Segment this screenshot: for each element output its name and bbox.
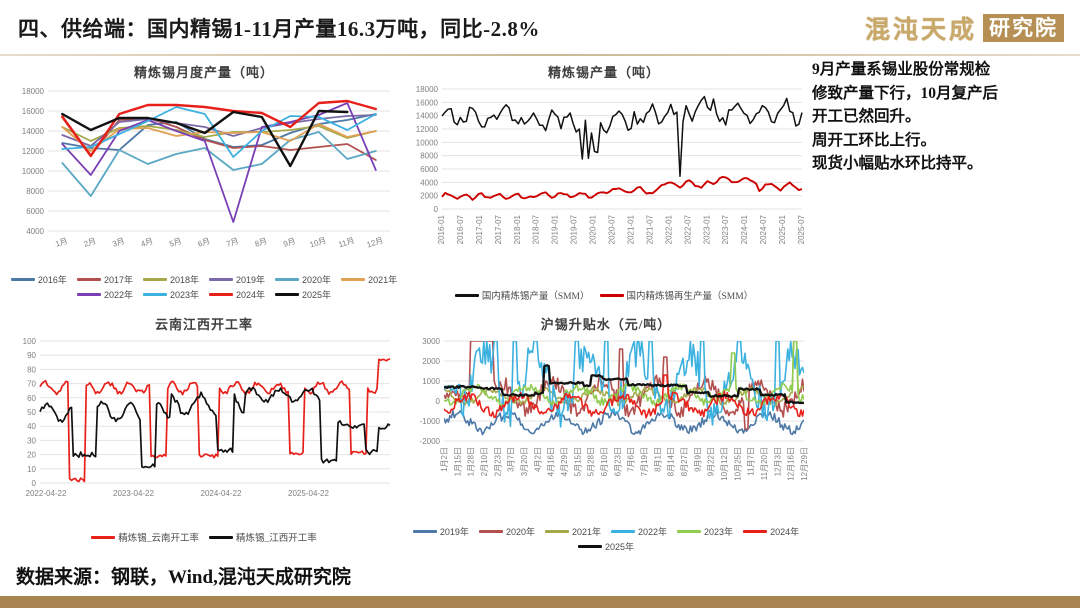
svg-text:2000: 2000: [422, 357, 440, 366]
brand-logo: 混沌天成 研究院: [865, 8, 1064, 48]
chart-operating-rate: 云南江西开工率 01020304050607080901002022-04-22…: [8, 312, 400, 560]
svg-text:3000: 3000: [422, 337, 440, 346]
chart-operating-rate-legend: 精炼锡_云南开工率精炼锡_江西开工率: [8, 530, 400, 544]
legend-item-国内精炼锡再生产量（SMM）[interactable]: 国内精炼锡再生产量（SMM）: [600, 288, 754, 302]
header-divider: [0, 54, 1080, 56]
svg-text:16000: 16000: [416, 98, 439, 107]
svg-text:8月27日: 8月27日: [680, 447, 689, 476]
svg-text:50: 50: [27, 408, 36, 417]
legend-swatch-icon: [611, 530, 635, 533]
svg-text:2018-01: 2018-01: [513, 214, 522, 244]
legend-label: 2022年: [638, 525, 667, 538]
svg-text:-2000: -2000: [420, 437, 441, 446]
svg-text:7月: 7月: [225, 236, 240, 248]
chart-premium-title: 沪锡升贴水（元/吨）: [400, 312, 812, 333]
legend-swatch-icon: [77, 293, 101, 296]
legend-item-2018年[interactable]: 2018年: [143, 273, 199, 286]
svg-text:11月: 11月: [337, 236, 355, 250]
legend-swatch-icon: [677, 530, 701, 533]
legend-item-2020年[interactable]: 2020年: [479, 525, 535, 538]
svg-text:4000: 4000: [26, 227, 44, 236]
chart-total-output-svg: 0200040006000800010000120001400016000180…: [398, 81, 810, 286]
svg-text:1月15日: 1月15日: [453, 447, 462, 476]
svg-text:10月: 10月: [309, 236, 328, 250]
svg-text:5月: 5月: [168, 236, 183, 248]
svg-text:1000: 1000: [422, 377, 440, 386]
svg-text:2024-04-22: 2024-04-22: [201, 489, 242, 498]
svg-text:12月16日: 12月16日: [787, 447, 796, 481]
svg-text:7月19日: 7月19日: [640, 447, 649, 476]
chart-monthly-output-title: 精炼锡月度产量（吨）: [8, 60, 400, 81]
svg-text:9月22日: 9月22日: [707, 447, 716, 476]
page-title: 四、供给端：国内精锡1-11月产量16.3万吨，同比-2.8%: [18, 13, 540, 43]
chart-monthly-output-legend: 2016年2017年2018年2019年2020年2021年2022年2023年…: [8, 273, 400, 301]
legend-swatch-icon: [743, 530, 767, 533]
svg-text:6000: 6000: [26, 207, 44, 216]
svg-text:5月15日: 5月15日: [573, 447, 582, 476]
legend-swatch-icon: [413, 530, 437, 533]
chart-monthly-output-svg: 40006000800010000120001400016000180001月2…: [8, 81, 400, 271]
legend-item-2024年[interactable]: 2024年: [209, 288, 265, 301]
commentary-panel: 9月产量系锡业股份常规检 修致产量下行，10月复产后 开工已然回升。 周开工环比…: [812, 58, 1074, 176]
svg-text:1月: 1月: [54, 236, 69, 248]
legend-item-2023年[interactable]: 2023年: [677, 525, 733, 538]
chart-operating-rate-svg: 01020304050607080901002022-04-222023-04-…: [8, 333, 400, 528]
svg-text:20: 20: [27, 451, 36, 460]
legend-label: 2023年: [704, 525, 733, 538]
svg-text:2016-01: 2016-01: [437, 214, 446, 244]
svg-text:100: 100: [23, 337, 37, 346]
legend-swatch-icon: [143, 278, 167, 281]
svg-text:2020-07: 2020-07: [608, 214, 617, 244]
svg-text:12月: 12月: [366, 236, 385, 250]
commentary-line-5: 现货小幅贴水环比持平。: [812, 152, 1074, 176]
legend-swatch-icon: [209, 278, 233, 281]
svg-text:3月7日: 3月7日: [507, 447, 516, 472]
svg-text:10000: 10000: [416, 138, 439, 147]
legend-swatch-icon: [77, 278, 101, 281]
svg-text:2月10日: 2月10日: [480, 447, 489, 476]
chart-total-output-title: 精炼锡产量（吨）: [398, 60, 810, 81]
svg-text:10月25日: 10月25日: [733, 447, 742, 481]
legend-item-2019年[interactable]: 2019年: [209, 273, 265, 286]
svg-text:2022-01: 2022-01: [664, 214, 673, 244]
svg-text:6000: 6000: [420, 165, 438, 174]
chart-premium-plot: -2000-100001000200030001月2日1月15日1月28日2月1…: [400, 333, 812, 523]
svg-text:16000: 16000: [22, 107, 45, 116]
svg-text:2020-01: 2020-01: [589, 214, 598, 244]
legend-swatch-icon: [11, 278, 35, 281]
chart-operating-rate-plot: 01020304050607080901002022-04-222023-04-…: [8, 333, 400, 528]
svg-text:8000: 8000: [26, 187, 44, 196]
svg-text:3月20日: 3月20日: [520, 447, 529, 476]
svg-text:2025-01: 2025-01: [778, 214, 787, 244]
svg-text:10000: 10000: [22, 167, 45, 176]
svg-text:2019-01: 2019-01: [551, 214, 560, 244]
legend-label: 国内精炼锡再生产量（SMM）: [627, 288, 754, 302]
svg-text:4月2日: 4月2日: [533, 447, 542, 472]
svg-text:2023-07: 2023-07: [721, 214, 730, 244]
svg-text:1月2日: 1月2日: [440, 447, 449, 472]
svg-text:8月1日: 8月1日: [653, 447, 662, 472]
svg-text:14000: 14000: [416, 112, 439, 121]
legend-label: 2016年: [38, 273, 67, 286]
legend-label: 精炼锡_江西开工率: [236, 530, 317, 544]
legend-swatch-icon: [578, 545, 602, 548]
legend-item-2025年[interactable]: 2025年: [275, 288, 331, 301]
svg-text:9月: 9月: [282, 236, 297, 248]
legend-label: 2019年: [440, 525, 469, 538]
chart-total-output: 精炼锡产量（吨） 0200040006000800010000120001400…: [398, 60, 810, 310]
svg-text:2000: 2000: [420, 192, 438, 201]
legend-item-2023年[interactable]: 2023年: [143, 288, 199, 301]
svg-text:0: 0: [434, 205, 439, 214]
svg-text:12月3日: 12月3日: [773, 447, 782, 476]
svg-text:0: 0: [436, 397, 441, 406]
svg-text:4月: 4月: [140, 236, 155, 248]
svg-text:2025-07: 2025-07: [797, 214, 806, 244]
svg-text:2024-01: 2024-01: [740, 214, 749, 244]
legend-swatch-icon: [479, 530, 503, 533]
svg-text:30: 30: [27, 436, 36, 445]
legend-label: 2021年: [572, 525, 601, 538]
svg-text:10月12日: 10月12日: [720, 447, 729, 481]
footer-accent-bar: [0, 596, 1080, 608]
svg-text:90: 90: [27, 351, 36, 360]
legend-item-2022年[interactable]: 2022年: [77, 288, 133, 301]
legend-item-2025年[interactable]: 2025年: [578, 540, 634, 553]
svg-text:2月: 2月: [83, 236, 98, 248]
svg-text:11月20日: 11月20日: [760, 447, 769, 480]
svg-text:2018-07: 2018-07: [532, 214, 541, 244]
legend-label: 2019年: [236, 273, 265, 286]
svg-text:2021-01: 2021-01: [626, 214, 635, 244]
svg-text:4000: 4000: [420, 178, 438, 187]
svg-text:1月28日: 1月28日: [467, 447, 476, 476]
legend-label: 2024年: [770, 525, 799, 538]
svg-text:12000: 12000: [22, 147, 45, 156]
legend-swatch-icon: [91, 536, 115, 539]
legend-item-2022年[interactable]: 2022年: [611, 525, 667, 538]
svg-text:6月23日: 6月23日: [613, 447, 622, 476]
legend-label: 2020年: [302, 273, 331, 286]
legend-item-2016年[interactable]: 2016年: [11, 273, 67, 286]
legend-swatch-icon: [275, 293, 299, 296]
svg-text:18000: 18000: [416, 85, 439, 94]
legend-label: 国内精炼锡产量（SMM）: [482, 288, 590, 302]
svg-text:0: 0: [32, 479, 37, 488]
svg-text:9月9日: 9月9日: [693, 447, 702, 472]
svg-text:8月14日: 8月14日: [667, 447, 676, 476]
legend-item-国内精炼锡产量（SMM）[interactable]: 国内精炼锡产量（SMM）: [455, 288, 590, 302]
legend-label: 2021年: [368, 273, 397, 286]
svg-text:2019-07: 2019-07: [570, 214, 579, 244]
brand-seal-text: 混沌天成: [865, 10, 977, 46]
legend-item-2020年[interactable]: 2020年: [275, 273, 331, 286]
data-source-label: 数据来源：钢联，Wind,混沌天成研究院: [16, 562, 351, 589]
legend-swatch-icon: [455, 294, 479, 297]
svg-text:7月6日: 7月6日: [627, 447, 636, 472]
legend-swatch-icon: [545, 530, 569, 533]
svg-text:18000: 18000: [22, 87, 45, 96]
svg-text:4月29日: 4月29日: [560, 447, 569, 476]
svg-text:2024-07: 2024-07: [759, 214, 768, 244]
svg-text:60: 60: [27, 394, 36, 403]
svg-text:2025-04-22: 2025-04-22: [288, 489, 329, 498]
svg-text:8000: 8000: [420, 152, 438, 161]
legend-label: 2024年: [236, 288, 265, 301]
chart-premium-svg: -2000-100001000200030001月2日1月15日1月28日2月1…: [400, 333, 812, 523]
legend-label: 2025年: [605, 540, 634, 553]
chart-monthly-output: 精炼锡月度产量（吨） 40006000800010000120001400016…: [8, 60, 400, 310]
svg-text:3月: 3月: [111, 236, 126, 248]
commentary-line-3: 开工已然回升。: [812, 105, 1074, 129]
slide-header: 四、供给端：国内精锡1-11月产量16.3万吨，同比-2.8% 混沌天成 研究院: [0, 0, 1080, 56]
legend-item-2019年[interactable]: 2019年: [413, 525, 469, 538]
svg-text:4月16日: 4月16日: [547, 447, 556, 476]
svg-text:70: 70: [27, 380, 36, 389]
svg-text:2022-07: 2022-07: [683, 214, 692, 244]
svg-text:6月10日: 6月10日: [600, 447, 609, 476]
chart-premium: 沪锡升贴水（元/吨） -2000-100001000200030001月2日1月…: [400, 312, 812, 560]
legend-swatch-icon: [143, 293, 167, 296]
legend-item-2017年[interactable]: 2017年: [77, 273, 133, 286]
legend-swatch-icon: [341, 278, 365, 281]
svg-text:2023-04-22: 2023-04-22: [113, 489, 154, 498]
legend-label: 2023年: [170, 288, 199, 301]
svg-text:2017-01: 2017-01: [475, 214, 484, 244]
svg-text:11月7日: 11月7日: [747, 447, 756, 476]
svg-text:2017-07: 2017-07: [494, 214, 503, 244]
legend-label: 2017年: [104, 273, 133, 286]
svg-text:40: 40: [27, 422, 36, 431]
svg-text:2022-04-22: 2022-04-22: [26, 489, 67, 498]
legend-item-2021年[interactable]: 2021年: [341, 273, 397, 286]
chart-total-output-plot: 0200040006000800010000120001400016000180…: [398, 81, 810, 286]
chart-premium-legend: 2019年2020年2021年2022年2023年2024年2025年: [400, 525, 812, 553]
legend-label: 2018年: [170, 273, 199, 286]
legend-label: 2025年: [302, 288, 331, 301]
legend-swatch-icon: [600, 294, 624, 297]
legend-item-精炼锡_云南开工率[interactable]: 精炼锡_云南开工率: [91, 530, 199, 544]
svg-text:5月28日: 5月28日: [587, 447, 596, 476]
svg-text:8月: 8月: [254, 236, 269, 248]
svg-text:2021-07: 2021-07: [645, 214, 654, 244]
chart-total-output-legend: 国内精炼锡产量（SMM）国内精炼锡再生产量（SMM）: [398, 288, 810, 302]
svg-text:14000: 14000: [22, 127, 45, 136]
chart-monthly-output-plot: 40006000800010000120001400016000180001月2…: [8, 81, 400, 271]
legend-item-精炼锡_江西开工率[interactable]: 精炼锡_江西开工率: [209, 530, 317, 544]
svg-text:2023-01: 2023-01: [702, 214, 711, 244]
svg-text:2016-07: 2016-07: [456, 214, 465, 244]
svg-text:10: 10: [27, 465, 36, 474]
commentary-line-1: 9月产量系锡业股份常规检: [812, 58, 1074, 82]
legend-label: 2022年: [104, 288, 133, 301]
legend-swatch-icon: [209, 293, 233, 296]
svg-text:12月29日: 12月29日: [800, 447, 809, 481]
commentary-line-2: 修致产量下行，10月复产后: [812, 82, 1074, 106]
legend-item-2021年[interactable]: 2021年: [545, 525, 601, 538]
legend-item-2024年[interactable]: 2024年: [743, 525, 799, 538]
svg-text:-1000: -1000: [420, 417, 441, 426]
brand-box-text: 研究院: [983, 14, 1064, 42]
legend-swatch-icon: [275, 278, 299, 281]
commentary-line-4: 周开工环比上行。: [812, 129, 1074, 153]
chart-operating-rate-title: 云南江西开工率: [8, 312, 400, 333]
svg-text:12000: 12000: [416, 125, 439, 134]
svg-text:6月: 6月: [197, 236, 212, 248]
legend-label: 精炼锡_云南开工率: [118, 530, 199, 544]
svg-text:80: 80: [27, 365, 36, 374]
legend-swatch-icon: [209, 536, 233, 539]
svg-text:2月23日: 2月23日: [493, 447, 502, 476]
legend-label: 2020年: [506, 525, 535, 538]
